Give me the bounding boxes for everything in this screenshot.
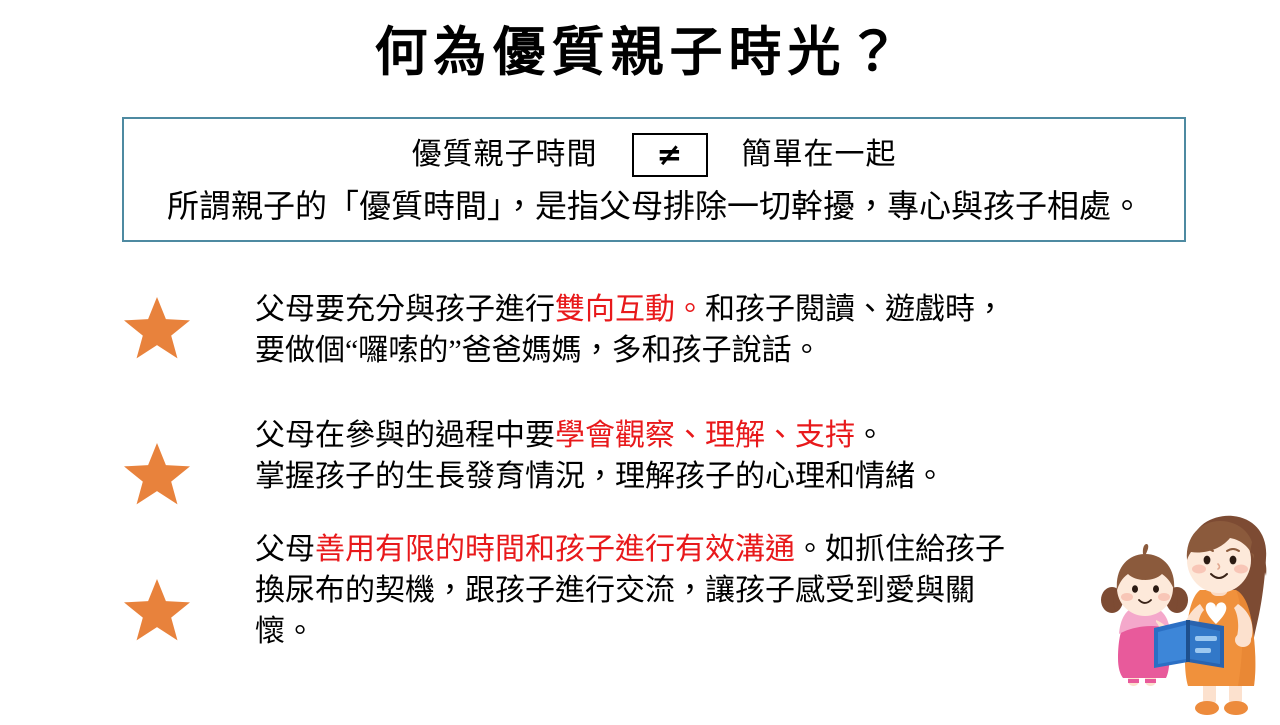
bullet-item: 父母善用有限的時間和孩子進行有效溝通。如抓住給孩子換尿布的契機，跟孩子進行交流，… bbox=[0, 529, 1280, 652]
bullet-item: 父母在參與的過程中要學會觀察、理解、支持。掌握孩子的生長發育情況，理解孩子的心理… bbox=[0, 415, 1280, 497]
plain-text: 父母要充分與孩子進行 bbox=[255, 293, 555, 326]
bullet-line: 父母在參與的過程中要學會觀察、理解、支持。 bbox=[255, 415, 1240, 456]
not-equal-box: ≠ bbox=[632, 133, 708, 177]
highlighted-text: 雙向互動。 bbox=[555, 293, 705, 326]
bullet-line: 掌握孩子的生長發育情況，理解孩子的心理和情緒。 bbox=[255, 456, 1240, 497]
plain-text: 父母 bbox=[255, 533, 315, 566]
not-equal-icon: ≠ bbox=[657, 140, 683, 171]
highlighted-text: 學會觀察、理解、支持 bbox=[555, 419, 855, 452]
bullet-line: 換尿布的契機，跟孩子進行交流，讓孩子感受到愛與關 bbox=[255, 570, 1240, 611]
slide-canvas: 何為優質親子時光？ 優質親子時間 ≠ 簡單在一起 所謂親子的「優質時間」，是指父… bbox=[0, 0, 1280, 720]
plain-text: 換尿布的契機，跟孩子進行交流，讓孩子感受到愛與關 bbox=[255, 574, 975, 607]
bullet-line: 懷。 bbox=[255, 611, 1240, 652]
bullet-list: 父母要充分與孩子進行雙向互動。和孩子閱讀、遊戲時，要做個“囉嗦的”爸爸媽媽，多和… bbox=[0, 285, 1280, 652]
highlighted-text: 善用有限的時間和孩子進行有效溝通 bbox=[315, 533, 795, 566]
plain-text: 。 bbox=[855, 419, 885, 452]
plain-text: 父母在參與的過程中要 bbox=[255, 419, 555, 452]
plain-text: 。如抓住給孩子 bbox=[795, 533, 1005, 566]
equation-right-term: 簡單在一起 bbox=[742, 140, 897, 170]
definition-description: 所謂親子的「優質時間」，是指父母排除一切幹擾，專心與孩子相處。 bbox=[134, 187, 1176, 225]
bullet-line: 父母要充分與孩子進行雙向互動。和孩子閱讀、遊戲時， bbox=[255, 289, 1240, 330]
definition-box: 優質親子時間 ≠ 簡單在一起 所謂親子的「優質時間」，是指父母排除一切幹擾，專心… bbox=[122, 117, 1186, 242]
star-icon bbox=[124, 577, 190, 641]
equation-left-term: 優質親子時間 bbox=[412, 140, 598, 170]
bullet-line: 要做個“囉嗦的”爸爸媽媽，多和孩子說話。 bbox=[255, 330, 1240, 371]
star-icon bbox=[124, 441, 190, 505]
bullet-line: 父母善用有限的時間和孩子進行有效溝通。如抓住給孩子 bbox=[255, 529, 1240, 570]
page-title: 何為優質親子時光？ bbox=[0, 22, 1280, 83]
bullet-item: 父母要充分與孩子進行雙向互動。和孩子閱讀、遊戲時，要做個“囉嗦的”爸爸媽媽，多和… bbox=[0, 289, 1280, 371]
bullet-text: 父母在參與的過程中要學會觀察、理解、支持。掌握孩子的生長發育情況，理解孩子的心理… bbox=[255, 415, 1280, 497]
plain-text: 要做個“囉嗦的”爸爸媽媽，多和孩子說話。 bbox=[255, 334, 822, 367]
equation-row: 優質親子時間 ≠ 簡單在一起 bbox=[124, 129, 1184, 181]
bullet-text: 父母要充分與孩子進行雙向互動。和孩子閱讀、遊戲時，要做個“囉嗦的”爸爸媽媽，多和… bbox=[255, 289, 1280, 371]
mother-and-daughter-reading-illustration bbox=[1096, 512, 1280, 720]
plain-text: 懷。 bbox=[255, 615, 315, 648]
star-icon bbox=[124, 295, 190, 359]
plain-text: 和孩子閱讀、遊戲時， bbox=[705, 293, 1005, 326]
plain-text: 掌握孩子的生長發育情況，理解孩子的心理和情緒。 bbox=[255, 460, 945, 493]
